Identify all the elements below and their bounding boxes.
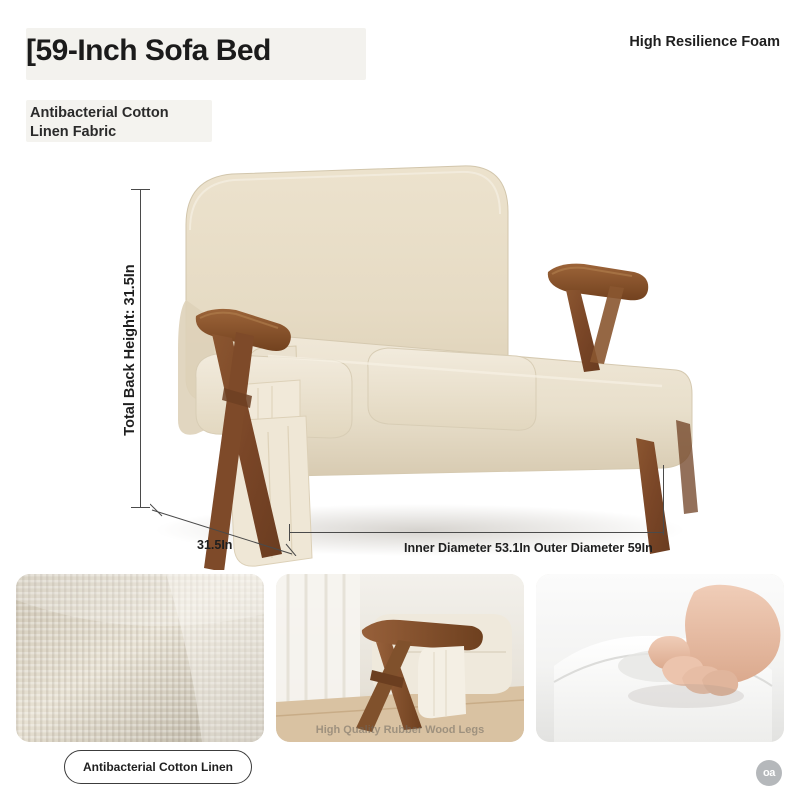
- thumbnail-wood-leg-closeup[interactable]: High Quality Rubber Wood Legs: [276, 574, 524, 742]
- depth-dimension-label: 31.5In: [197, 538, 232, 552]
- thumbnail-caption: High Quality Rubber Wood Legs: [276, 724, 524, 736]
- width-dimension-cap-right: [663, 465, 664, 535]
- thumbnail-row: High Quality Rubber Wood Legs: [16, 574, 784, 742]
- width-dimension-cap-left: [289, 524, 290, 541]
- product-infographic-page: [59-Inch Sofa Bed Antibacterial Cotton L…: [0, 0, 800, 800]
- foam-feature-label: High Resilience Foam: [629, 34, 780, 50]
- height-dimension-cap-bottom: [131, 507, 150, 508]
- thumbnail-fabric-closeup[interactable]: [16, 574, 264, 742]
- antibacterial-badge[interactable]: Antibacterial Cotton Linen: [64, 750, 252, 784]
- height-dimension-label: Total Back Height: 31.5In: [122, 240, 138, 460]
- thumbnail-foam-press-closeup[interactable]: [536, 574, 784, 742]
- page-title: [59-Inch Sofa Bed: [26, 34, 271, 68]
- width-dimension-line: [290, 532, 664, 533]
- width-dimension-label: Inner Diameter 53.1In Outer Diameter 59I…: [404, 541, 653, 555]
- height-dimension-label-wrap: Total Back Height: 31.5In: [112, 230, 132, 480]
- height-dimension-cap-top: [131, 189, 150, 190]
- watermark-logo: oa: [756, 760, 782, 786]
- height-dimension-line: [140, 190, 141, 508]
